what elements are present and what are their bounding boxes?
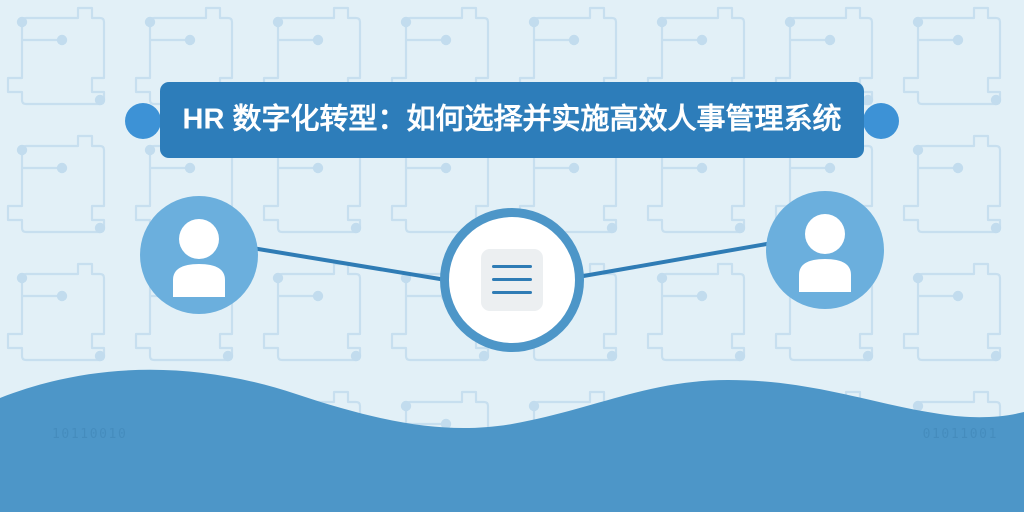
diagram-node-center-system[interactable] [440,208,584,352]
circle-bullet-icon [125,103,161,139]
circle-bullet-icon [863,103,899,139]
document-line [492,291,532,294]
title-banner: HR 数字化转型：如何选择并实施高效人事管理系统 [160,82,864,158]
page-title: HR 数字化转型：如何选择并实施高效人事管理系统 [183,106,842,135]
document-line [492,278,532,281]
document-icon [481,249,543,311]
diagram-node-left-person[interactable] [140,196,258,314]
slide-canvas: 10110010 01011001 HR 数字化转型：如何选择并实施高效人事管理… [0,0,1024,512]
diagram-node-right-person[interactable] [766,191,884,309]
person-icon [766,191,884,309]
document-line [492,265,532,268]
person-icon [140,196,258,314]
